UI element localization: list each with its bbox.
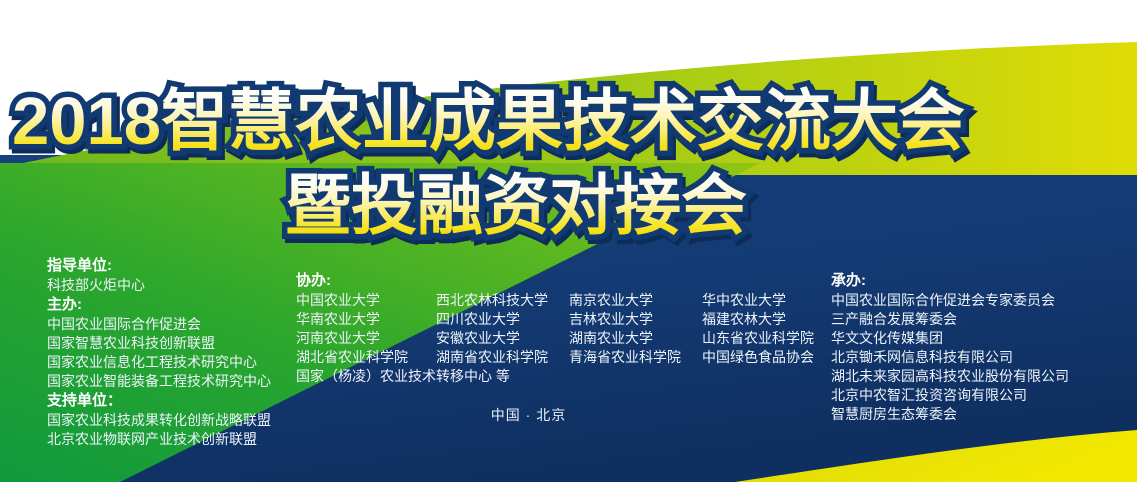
coorganizer-cell: 湖南农业大学: [569, 329, 702, 348]
coorganizer-row: 华南农业大学 四川农业大学 吉林农业大学 福建农林大学: [296, 310, 814, 329]
coorganizer-cell: 福建农林大学: [702, 310, 786, 329]
coorganizer-cell: 湖北省农业科学院: [296, 348, 436, 367]
right-item-1: 三产融合发展筹委会: [831, 310, 1069, 329]
coorganizer-cell: 南京农业大学: [569, 291, 702, 310]
left-item-guidance-0: 科技部火炬中心: [47, 276, 271, 295]
coorganizer-cell: 河南农业大学: [296, 329, 436, 348]
left-item-host-0: 中国农业国际合作促进会: [47, 315, 271, 334]
right-heading-undertaker: 承办:: [831, 271, 1069, 291]
right-item-4: 湖北未来家园高科技农业股份有限公司: [831, 367, 1069, 386]
left-group-heading-guidance: 指导单位:: [47, 256, 271, 276]
organizers-column-middle: 协办: 中国农业大学 西北农林科技大学 南京农业大学 华中农业大学 华南农业大学…: [296, 271, 814, 386]
right-item-0: 中国农业国际合作促进会专家委员会: [831, 291, 1069, 310]
organizers-column-right: 承办: 中国农业国际合作促进会专家委员会 三产融合发展筹委会 华文文化传媒集团 …: [831, 271, 1069, 424]
right-item-5: 北京中农智汇投资咨询有限公司: [831, 386, 1069, 405]
coorganizer-cell: 湖南省农业科学院: [436, 348, 569, 367]
coorganizer-cell: 华南农业大学: [296, 310, 436, 329]
coorganizer-row-last: 国家（杨凌）农业技术转移中心 等: [296, 367, 814, 386]
coorganizer-cell: 中国绿色食品协会: [702, 348, 814, 367]
left-item-host-2: 国家农业信息化工程技术研究中心: [47, 353, 271, 372]
coorganizer-row: 湖北省农业科学院 湖南省农业科学院 青海省农业科学院 中国绿色食品协会: [296, 348, 814, 367]
coorganizer-cell: 华中农业大学: [702, 291, 786, 310]
left-group-heading-host: 主办:: [47, 295, 271, 315]
coorganizer-cell: 安徽农业大学: [436, 329, 569, 348]
coorganizer-cell: 山东省农业科学院: [702, 329, 814, 348]
left-item-host-3: 国家农业智能装备工程技术研究中心: [47, 372, 271, 391]
right-item-2: 华文文化传媒集团: [831, 329, 1069, 348]
coorganizer-cell: 中国农业大学: [296, 291, 436, 310]
coorganizer-cell: 吉林农业大学: [569, 310, 702, 329]
event-poster: 2018智慧农业成果技术交流大会 2018智慧农业成果技术交流大会 2018智慧…: [0, 0, 1137, 482]
coorganizer-cell: 西北农林科技大学: [436, 291, 569, 310]
event-location: 中国 · 北京: [0, 405, 1097, 425]
left-item-host-1: 国家智慧农业科技创新联盟: [47, 334, 271, 353]
right-item-3: 北京锄禾网信息科技有限公司: [831, 348, 1069, 367]
left-item-support-1: 北京农业物联网产业技术创新联盟: [47, 430, 271, 449]
coorganizer-row: 中国农业大学 西北农林科技大学 南京农业大学 华中农业大学: [296, 291, 814, 310]
middle-heading-coorganizer: 协办:: [296, 271, 814, 291]
coorganizer-row: 河南农业大学 安徽农业大学 湖南农业大学 山东省农业科学院: [296, 329, 814, 348]
coorganizer-cell: 青海省农业科学院: [569, 348, 702, 367]
coorganizer-cell: 四川农业大学: [436, 310, 569, 329]
